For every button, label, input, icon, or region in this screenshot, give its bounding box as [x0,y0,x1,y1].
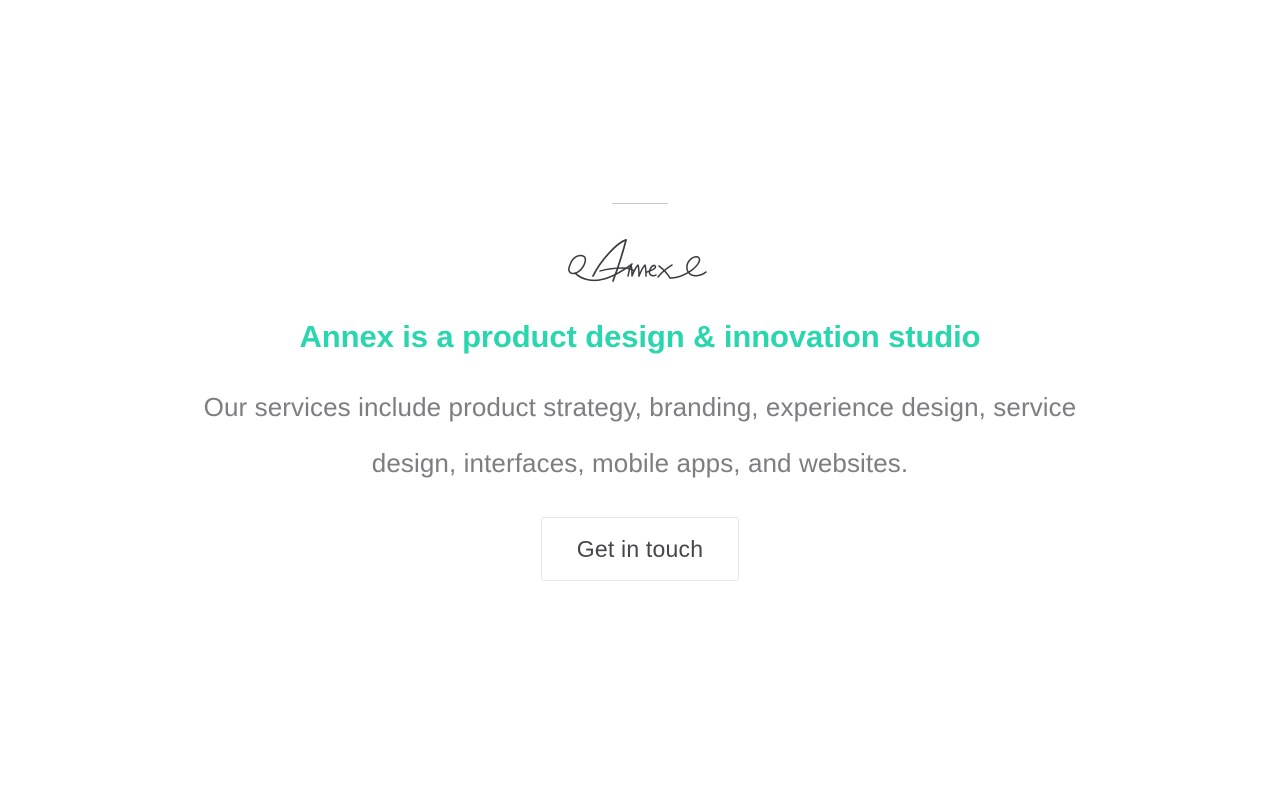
get-in-touch-button[interactable]: Get in touch [541,517,739,581]
hero-section: Annex is a product design & innovation s… [0,0,1280,800]
top-divider-rule [612,203,668,204]
cta-row: Get in touch [541,517,739,581]
hero-description: Our services include product strategy, b… [160,379,1120,491]
page-title: Annex is a product design & innovation s… [300,317,981,357]
hero-content-container: Annex is a product design & innovation s… [150,203,1130,581]
annex-signature-logo [566,235,714,291]
